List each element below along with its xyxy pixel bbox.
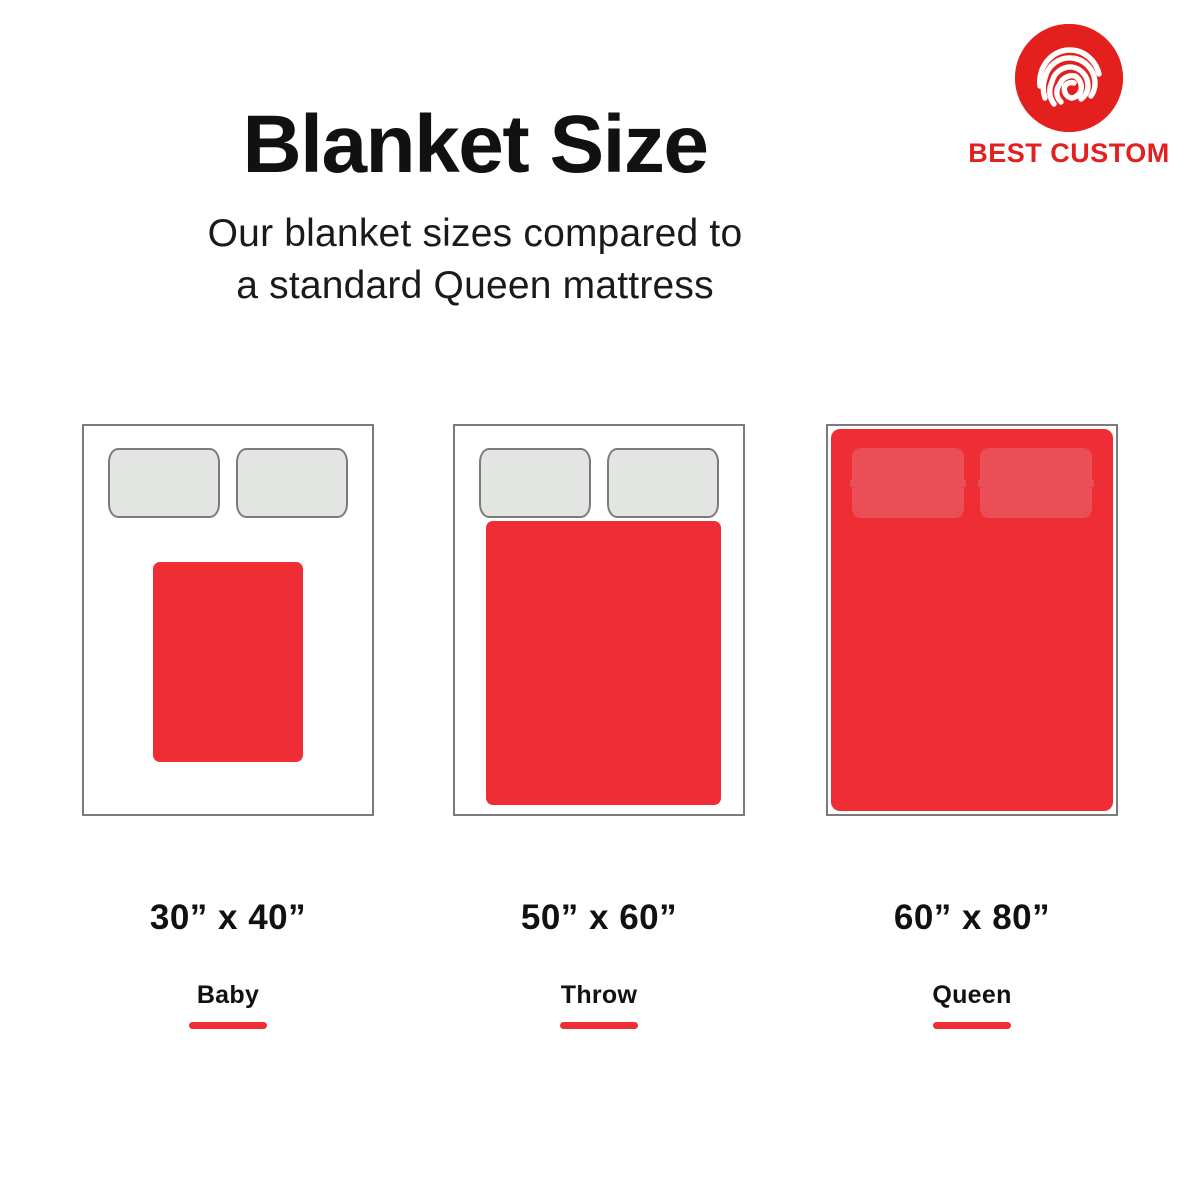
- size-name: Throw: [453, 983, 745, 1008]
- accent-underline: [933, 1022, 1011, 1029]
- bed-diagram-baby: [82, 424, 374, 816]
- page-title: Blanket Size: [0, 104, 950, 186]
- fingerprint-icon: [1015, 24, 1123, 132]
- size-dimensions: 50” x 60”: [453, 900, 745, 935]
- pillow-right-icon: [236, 448, 348, 518]
- bed-diagram-queen: [826, 424, 1118, 816]
- brand-name: BEST CUSTOM: [964, 140, 1174, 167]
- size-dimensions: 30” x 40”: [82, 900, 374, 935]
- caption-throw: 50” x 60” Throw: [453, 900, 745, 1029]
- blanket-baby: [153, 562, 303, 762]
- size-name: Queen: [826, 983, 1118, 1008]
- pillow-left-icon: [852, 448, 964, 518]
- pillow-right-icon: [607, 448, 719, 518]
- brand-logo: BEST CUSTOM: [964, 24, 1174, 167]
- header-block: Blanket Size Our blanket sizes compared …: [0, 104, 950, 312]
- accent-underline: [189, 1022, 267, 1029]
- pillow-left-icon: [108, 448, 220, 518]
- blanket-throw: [486, 521, 721, 805]
- pillow-right-icon: [980, 448, 1092, 518]
- caption-baby: 30” x 40” Baby: [82, 900, 374, 1029]
- caption-queen: 60” x 80” Queen: [826, 900, 1118, 1029]
- size-name: Baby: [82, 983, 374, 1008]
- size-dimensions: 60” x 80”: [826, 900, 1118, 935]
- caption-row: 30” x 40” Baby 50” x 60” Throw 60” x 80”…: [0, 900, 1200, 1040]
- page-subtitle: Our blanket sizes compared to a standard…: [0, 208, 950, 312]
- infographic-page: BEST CUSTOM Blanket Size Our blanket siz…: [0, 0, 1200, 1200]
- subtitle-line-2: a standard Queen mattress: [0, 260, 950, 312]
- bed-diagram-throw: [453, 424, 745, 816]
- subtitle-line-1: Our blanket sizes compared to: [0, 208, 950, 260]
- pillow-left-icon: [479, 448, 591, 518]
- accent-underline: [560, 1022, 638, 1029]
- bed-comparison-row: [0, 424, 1200, 820]
